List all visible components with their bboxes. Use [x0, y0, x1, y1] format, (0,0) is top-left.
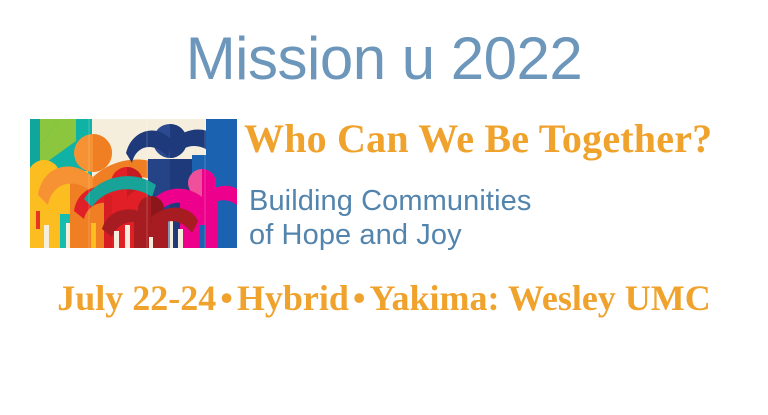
- theme-headline: Who Can We Be Together?: [244, 117, 744, 161]
- details-separator-2: •: [349, 278, 370, 318]
- page-title: Mission u 2022: [0, 26, 768, 92]
- event-location: Yakima: Wesley UMC: [369, 278, 710, 318]
- theme-subtitle-line-1: Building Communities: [249, 184, 719, 218]
- details-separator-1: •: [216, 278, 237, 318]
- theme-subtitle-line-2: of Hope and Joy: [249, 218, 719, 252]
- event-format: Hybrid: [237, 278, 349, 318]
- community-figures-icon: [30, 119, 237, 248]
- event-details: July 22-24•Hybrid•Yakima: Wesley UMC: [0, 277, 768, 319]
- poster-canvas: Mission u 2022: [0, 0, 768, 415]
- event-dates: July 22-24: [57, 278, 216, 318]
- theme-subtitle: Building Communities of Hope and Joy: [249, 184, 719, 252]
- mission-u-logo: [30, 119, 237, 248]
